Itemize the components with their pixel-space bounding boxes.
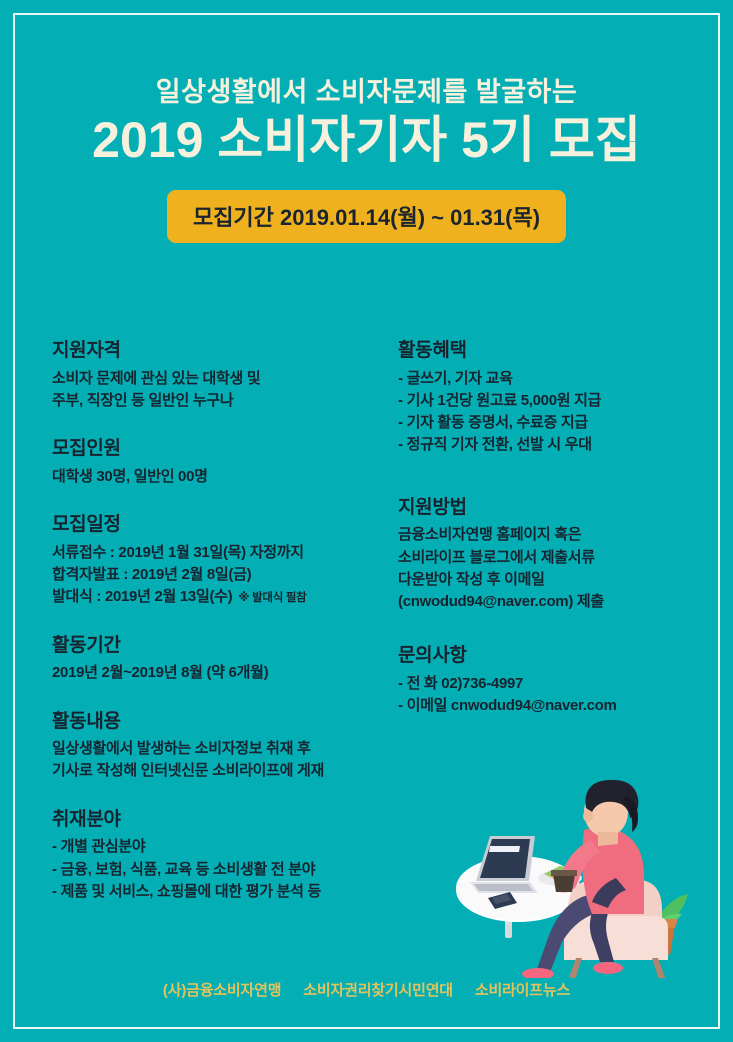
section-benefits: 활동혜택 - 글쓰기, 기자 교육 - 기사 1건당 원고료 5,000원 지급… — [398, 340, 698, 457]
poster-title: 2019 소비자기자 5기 모집 — [0, 112, 733, 168]
section-schedule: 모집일정 서류접수 : 2019년 1월 31일(목) 자정까지 합격자발표 :… — [52, 514, 382, 608]
list-item: - 글쓰기, 기자 교육 — [398, 368, 698, 390]
schedule-note: ※ 발대식 필참 — [238, 592, 306, 604]
neck — [598, 832, 618, 846]
organization-name: (사)금융소비자연맹 — [163, 982, 281, 999]
section-heading: 활동기간 — [52, 635, 382, 658]
section-line: 2019년 2월~2019년 8월 (약 6개월) — [52, 662, 382, 684]
person-working-at-table-illustration — [440, 778, 710, 978]
benefits-list: - 글쓰기, 기자 교육 - 기사 1건당 원고료 5,000원 지급 - 기자… — [398, 368, 698, 457]
organization-name: 소비자권리찾기시민연대 — [303, 982, 453, 999]
recruitment-period-badge: 모집기간 2019.01.14(월) ~ 01.31(목) — [167, 190, 566, 243]
section-line: 소비라이프 블로그에서 제출서류 — [398, 547, 698, 569]
section-heading: 지원자격 — [52, 340, 382, 363]
ear — [583, 810, 593, 822]
section-line: 기사로 작성해 인터넷신문 소비라이프에 게재 — [52, 760, 382, 782]
poster-subtitle: 일상생활에서 소비자문제를 발굴하는 — [0, 78, 733, 108]
right-column: 활동혜택 - 글쓰기, 기자 교육 - 기사 1건당 원고료 5,000원 지급… — [398, 340, 698, 717]
list-item: - 기사 1건당 원고료 5,000원 지급 — [398, 390, 698, 412]
shoe — [593, 962, 623, 974]
schedule-kickoff-date: 발대식 : 2019년 2월 13일(수) — [52, 588, 232, 605]
armchair-seat — [564, 916, 668, 960]
chair-leg — [652, 958, 666, 978]
section-coverage-areas: 취재분야 - 개별 관심분야 - 금융, 보험, 식품, 교육 등 소비생활 전… — [52, 809, 382, 903]
section-contact: 문의사항 - 전 화 02)736-4997 - 이메일 cnwodud94@n… — [398, 645, 698, 717]
section-line-with-note: 발대식 : 2019년 2월 13일(수)※ 발대식 필참 — [52, 586, 382, 608]
section-heading: 문의사항 — [398, 645, 698, 668]
section-heading: 지원방법 — [398, 497, 698, 520]
section-how-to-apply: 지원방법 금융소비자연맹 홈페이지 혹은 소비라이프 블로그에서 제출서류 다운… — [398, 497, 698, 614]
recruitment-period-badge-wrap: 모집기간 2019.01.14(월) ~ 01.31(목) — [0, 190, 733, 243]
contact-email: - 이메일 cnwodud94@naver.com — [398, 695, 698, 717]
section-activity-period: 활동기간 2019년 2월~2019년 8월 (약 6개월) — [52, 635, 382, 685]
section-line: 대학생 30명, 일반인 00명 — [52, 466, 382, 488]
section-line: 금융소비자연맹 홈페이지 혹은 — [398, 524, 698, 546]
chair-leg — [568, 958, 582, 978]
footer-organizations: (사)금융소비자연맹 소비자권리찾기시민연대 소비라이프뉴스 — [0, 979, 733, 1000]
section-heading: 활동혜택 — [398, 340, 698, 363]
application-email-line: (cnwodud94@naver.com) 제출 — [398, 591, 698, 613]
section-line: 소비자 문제에 관심 있는 대학생 및 — [52, 368, 382, 390]
poster-header: 일상생활에서 소비자문제를 발굴하는 2019 소비자기자 5기 모집 모집기간… — [0, 78, 733, 243]
section-heading: 모집인원 — [52, 438, 382, 461]
section-line: 합격자발표 : 2019년 2월 8일(금) — [52, 564, 382, 586]
section-heading: 모집일정 — [52, 514, 382, 537]
section-heading: 활동내용 — [52, 711, 382, 734]
section-line: 서류접수 : 2019년 1월 31일(목) 자정까지 — [52, 542, 382, 564]
list-item: - 기자 활동 증명서, 수료증 지급 — [398, 412, 698, 434]
organization-name: 소비라이프뉴스 — [475, 982, 570, 999]
section-activity-content: 활동내용 일상생활에서 발생하는 소비자정보 취재 후 기사로 작성해 인터넷신… — [52, 711, 382, 783]
left-column: 지원자격 소비자 문제에 관심 있는 대학생 및 주부, 직장인 등 일반인 누… — [52, 340, 382, 903]
section-line: 다운받아 작성 후 이메일 — [398, 569, 698, 591]
coverage-areas-list: - 개별 관심분야 - 금융, 보험, 식품, 교육 등 소비생활 전 분야 -… — [52, 836, 382, 903]
list-item: - 금융, 보험, 식품, 교육 등 소비생활 전 분야 — [52, 859, 382, 881]
section-heading: 취재분야 — [52, 809, 382, 832]
section-line: 주부, 직장인 등 일반인 누구나 — [52, 390, 382, 412]
contact-list: - 전 화 02)736-4997 - 이메일 cnwodud94@naver.… — [398, 673, 698, 717]
section-eligibility: 지원자격 소비자 문제에 관심 있는 대학생 및 주부, 직장인 등 일반인 누… — [52, 340, 382, 412]
list-item: - 제품 및 서비스, 쇼핑몰에 대한 평가 분석 등 — [52, 881, 382, 903]
list-item: - 정규직 기자 전환, 선발 시 우대 — [398, 434, 698, 456]
section-line: 일상생활에서 발생하는 소비자정보 취재 후 — [52, 738, 382, 760]
contact-phone: - 전 화 02)736-4997 — [398, 673, 698, 695]
recruitment-poster: 일상생활에서 소비자문제를 발굴하는 2019 소비자기자 5기 모집 모집기간… — [0, 0, 733, 1042]
poster-footer: (사)금융소비자연맹 소비자권리찾기시민연대 소비라이프뉴스 — [0, 979, 733, 1000]
section-headcount: 모집인원 대학생 30명, 일반인 00명 — [52, 438, 382, 488]
list-item: - 개별 관심분야 — [52, 836, 382, 858]
